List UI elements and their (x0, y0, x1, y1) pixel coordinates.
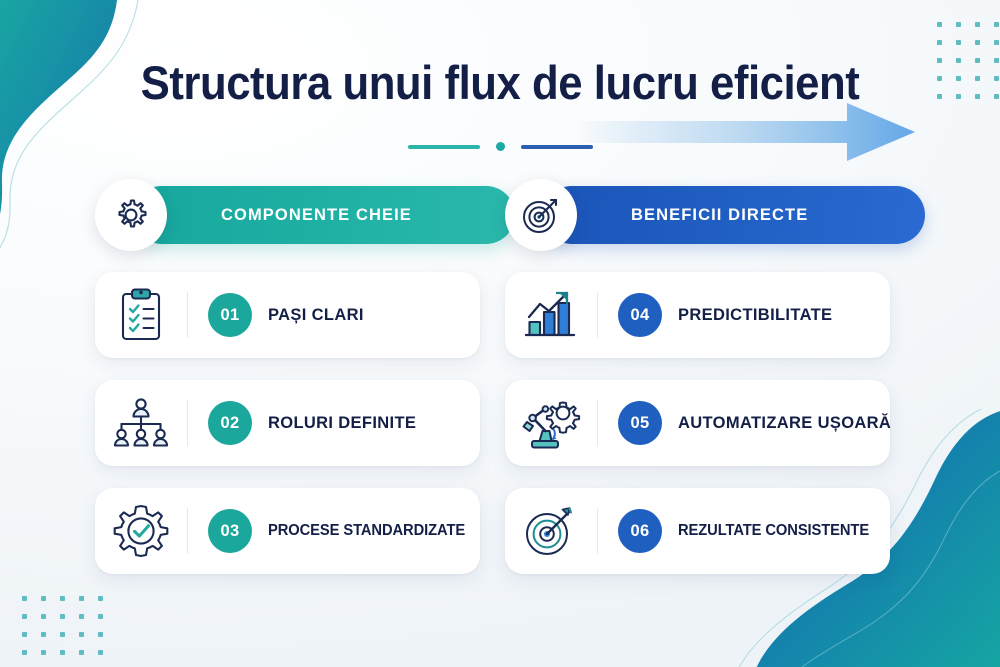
card-procese-standardizate[interactable]: 03 PROCESE STANDARDIZATE (95, 488, 480, 574)
card-roluri-definite[interactable]: 02 ROLURI DEFINITE (95, 380, 480, 466)
robot-arm-gear-icon (505, 396, 597, 450)
card-label: ROLURI DEFINITE (268, 414, 416, 433)
card-number: 05 (618, 401, 662, 445)
divider-line-right (521, 145, 593, 149)
gear-check-icon (95, 503, 187, 559)
card-number: 04 (618, 293, 662, 337)
card-label: AUTOMATIZARE UȘOARĂ (678, 414, 891, 433)
page-title-wrapper: Structura unui flux de lucru eficient (0, 58, 1000, 107)
gear-icon (95, 179, 167, 251)
card-predictibilitate[interactable]: 04 PREDICTIBILITATE (505, 272, 890, 358)
clipboard-checklist-icon (95, 287, 187, 343)
card-number: 01 (208, 293, 252, 337)
card-divider (187, 292, 188, 338)
page-title: Structura unui flux de lucru eficient (35, 58, 965, 107)
card-divider (597, 508, 598, 554)
badge-componente-cheie[interactable]: COMPONENTE CHEIE (133, 186, 515, 244)
column-componente: COMPONENTE CHEIE 01 PAȘI CLARI (95, 186, 515, 574)
dot-grid-bottom-left (22, 596, 117, 667)
card-number: 02 (208, 401, 252, 445)
badge-beneficii-directe[interactable]: BENEFICII DIRECTE (543, 186, 925, 244)
divider-line-left (408, 145, 480, 149)
card-rezultate-consistente[interactable]: 06 REZULTATE CONSISTENTE (505, 488, 890, 574)
card-label: PREDICTIBILITATE (678, 306, 832, 325)
card-divider (187, 400, 188, 446)
card-label: REZULTATE CONSISTENTE (678, 522, 869, 540)
card-automatizare-usoara[interactable]: 05 AUTOMATIZARE UȘOARĂ (505, 380, 890, 466)
column-beneficii: BENEFICII DIRECTE 04 PREDICTIBILITATE (505, 186, 925, 574)
card-divider (597, 400, 598, 446)
card-number: 03 (208, 509, 252, 553)
card-divider (187, 508, 188, 554)
card-label: PROCESE STANDARDIZATE (268, 522, 465, 540)
card-number: 06 (618, 509, 662, 553)
card-label: PAȘI CLARI (268, 306, 364, 325)
growth-chart-icon (505, 289, 597, 341)
card-divider (597, 292, 598, 338)
card-pasi-clari[interactable]: 01 PAȘI CLARI (95, 272, 480, 358)
target-arrow-icon (505, 179, 577, 251)
right-arrow-icon (575, 103, 915, 161)
badge-beneficii-label: BENEFICII DIRECTE (631, 206, 808, 225)
org-chart-icon (95, 397, 187, 449)
divider-dot (496, 142, 505, 151)
title-divider (0, 142, 1000, 151)
badge-componente-label: COMPONENTE CHEIE (221, 206, 412, 225)
target-arrow-icon (505, 504, 597, 558)
infographic-canvas: Structura unui flux de lucru eficient CO… (0, 0, 1000, 667)
